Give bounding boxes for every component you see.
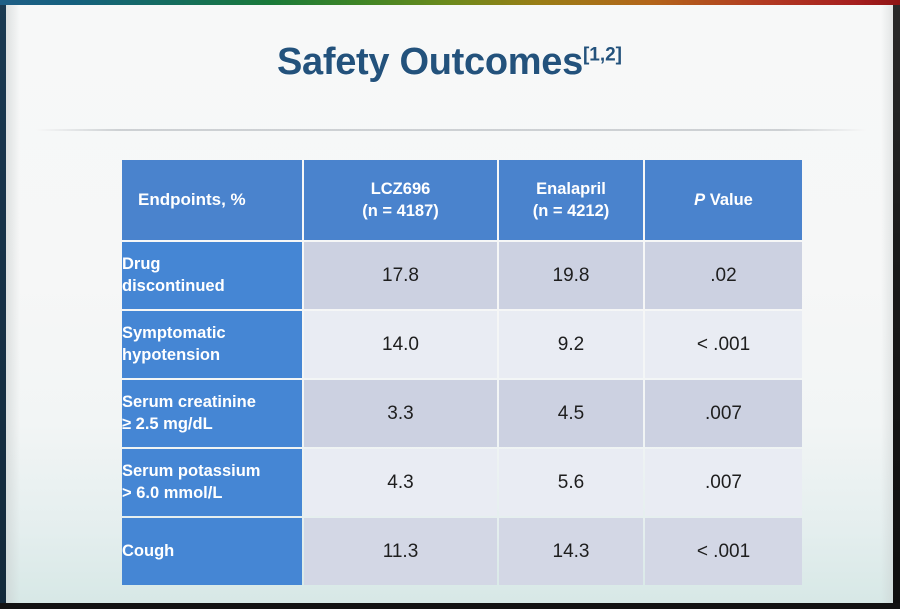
table-row: Symptomatic hypotension 14.0 9.2 < .001 bbox=[122, 311, 802, 378]
column-header-endpoints: Endpoints, % bbox=[122, 160, 302, 240]
window-frame-left-edge bbox=[0, 0, 6, 609]
cell-p-value: .007 bbox=[645, 380, 802, 447]
column-header-p-value-label: Value bbox=[705, 191, 753, 209]
cell-p-value: < .001 bbox=[645, 311, 802, 378]
cell-enalapril: 19.8 bbox=[499, 242, 643, 309]
cell-p-value: .02 bbox=[645, 242, 802, 309]
table-row: Cough 11.3 14.3 < .001 bbox=[122, 518, 802, 585]
row-label-line-1: Drug bbox=[122, 254, 302, 275]
cell-p-value: < .001 bbox=[645, 518, 802, 585]
column-header-lcz696-n: (n = 4187) bbox=[304, 200, 497, 222]
cell-enalapril: 4.5 bbox=[499, 380, 643, 447]
safety-outcomes-table-container: Endpoints, % LCZ696 (n = 4187) Enalapril… bbox=[120, 158, 796, 587]
column-header-enalapril-n: (n = 4212) bbox=[499, 200, 643, 222]
cell-enalapril: 5.6 bbox=[499, 449, 643, 516]
color-gradient-strip bbox=[0, 0, 900, 5]
column-header-lcz696: LCZ696 (n = 4187) bbox=[304, 160, 497, 240]
row-label-line-2: hypotension bbox=[122, 345, 302, 366]
presentation-slide: Safety Outcomes[1,2] Endpoints, % LCZ6 bbox=[6, 5, 893, 603]
page-title: Safety Outcomes[1,2] bbox=[6, 41, 893, 84]
row-label-cough: Cough bbox=[122, 518, 302, 585]
cell-p-value: .007 bbox=[645, 449, 802, 516]
row-label-line-1: Symptomatic bbox=[122, 323, 302, 344]
cell-lcz696: 11.3 bbox=[304, 518, 497, 585]
row-label-symptomatic-hypotension: Symptomatic hypotension bbox=[122, 311, 302, 378]
cell-enalapril: 14.3 bbox=[499, 518, 643, 585]
cell-lcz696: 14.0 bbox=[304, 311, 497, 378]
page-title-text: Safety Outcomes bbox=[277, 41, 583, 83]
row-label-serum-creatinine: Serum creatinine ≥ 2.5 mg/dL bbox=[122, 380, 302, 447]
row-label-line-1: Serum creatinine bbox=[122, 392, 302, 413]
page-title-citation: [1,2] bbox=[583, 44, 622, 65]
table-header-row: Endpoints, % LCZ696 (n = 4187) Enalapril… bbox=[122, 160, 802, 240]
cell-lcz696: 4.3 bbox=[304, 449, 497, 516]
cell-lcz696: 17.8 bbox=[304, 242, 497, 309]
column-header-enalapril: Enalapril (n = 4212) bbox=[499, 160, 643, 240]
row-label-line-1: Cough bbox=[122, 541, 302, 562]
table-row: Serum creatinine ≥ 2.5 mg/dL 3.3 4.5 .00… bbox=[122, 380, 802, 447]
safety-outcomes-table: Endpoints, % LCZ696 (n = 4187) Enalapril… bbox=[120, 158, 804, 587]
row-label-serum-potassium: Serum potassium > 6.0 mmol/L bbox=[122, 449, 302, 516]
row-label-line-2: ≥ 2.5 mg/dL bbox=[122, 414, 302, 435]
table-row: Serum potassium > 6.0 mmol/L 4.3 5.6 .00… bbox=[122, 449, 802, 516]
column-header-p-value: P Value bbox=[645, 160, 802, 240]
column-header-enalapril-label: Enalapril bbox=[499, 178, 643, 200]
window-frame-right-edge bbox=[893, 0, 900, 609]
slide-screenshot: Safety Outcomes[1,2] Endpoints, % LCZ6 bbox=[0, 0, 900, 609]
row-label-line-1: Serum potassium bbox=[122, 461, 302, 482]
column-header-p-italic: P bbox=[694, 191, 705, 209]
cell-enalapril: 9.2 bbox=[499, 311, 643, 378]
row-label-line-2: discontinued bbox=[122, 276, 302, 297]
cell-lcz696: 3.3 bbox=[304, 380, 497, 447]
column-header-lcz696-label: LCZ696 bbox=[304, 178, 497, 200]
row-label-drug-discontinued: Drug discontinued bbox=[122, 242, 302, 309]
row-label-line-2: > 6.0 mmol/L bbox=[122, 483, 302, 504]
column-header-endpoints-label: Endpoints, % bbox=[138, 190, 246, 209]
window-frame-bottom-edge bbox=[0, 603, 900, 609]
table-row: Drug discontinued 17.8 19.8 .02 bbox=[122, 242, 802, 309]
slide-divider-line bbox=[36, 129, 866, 131]
